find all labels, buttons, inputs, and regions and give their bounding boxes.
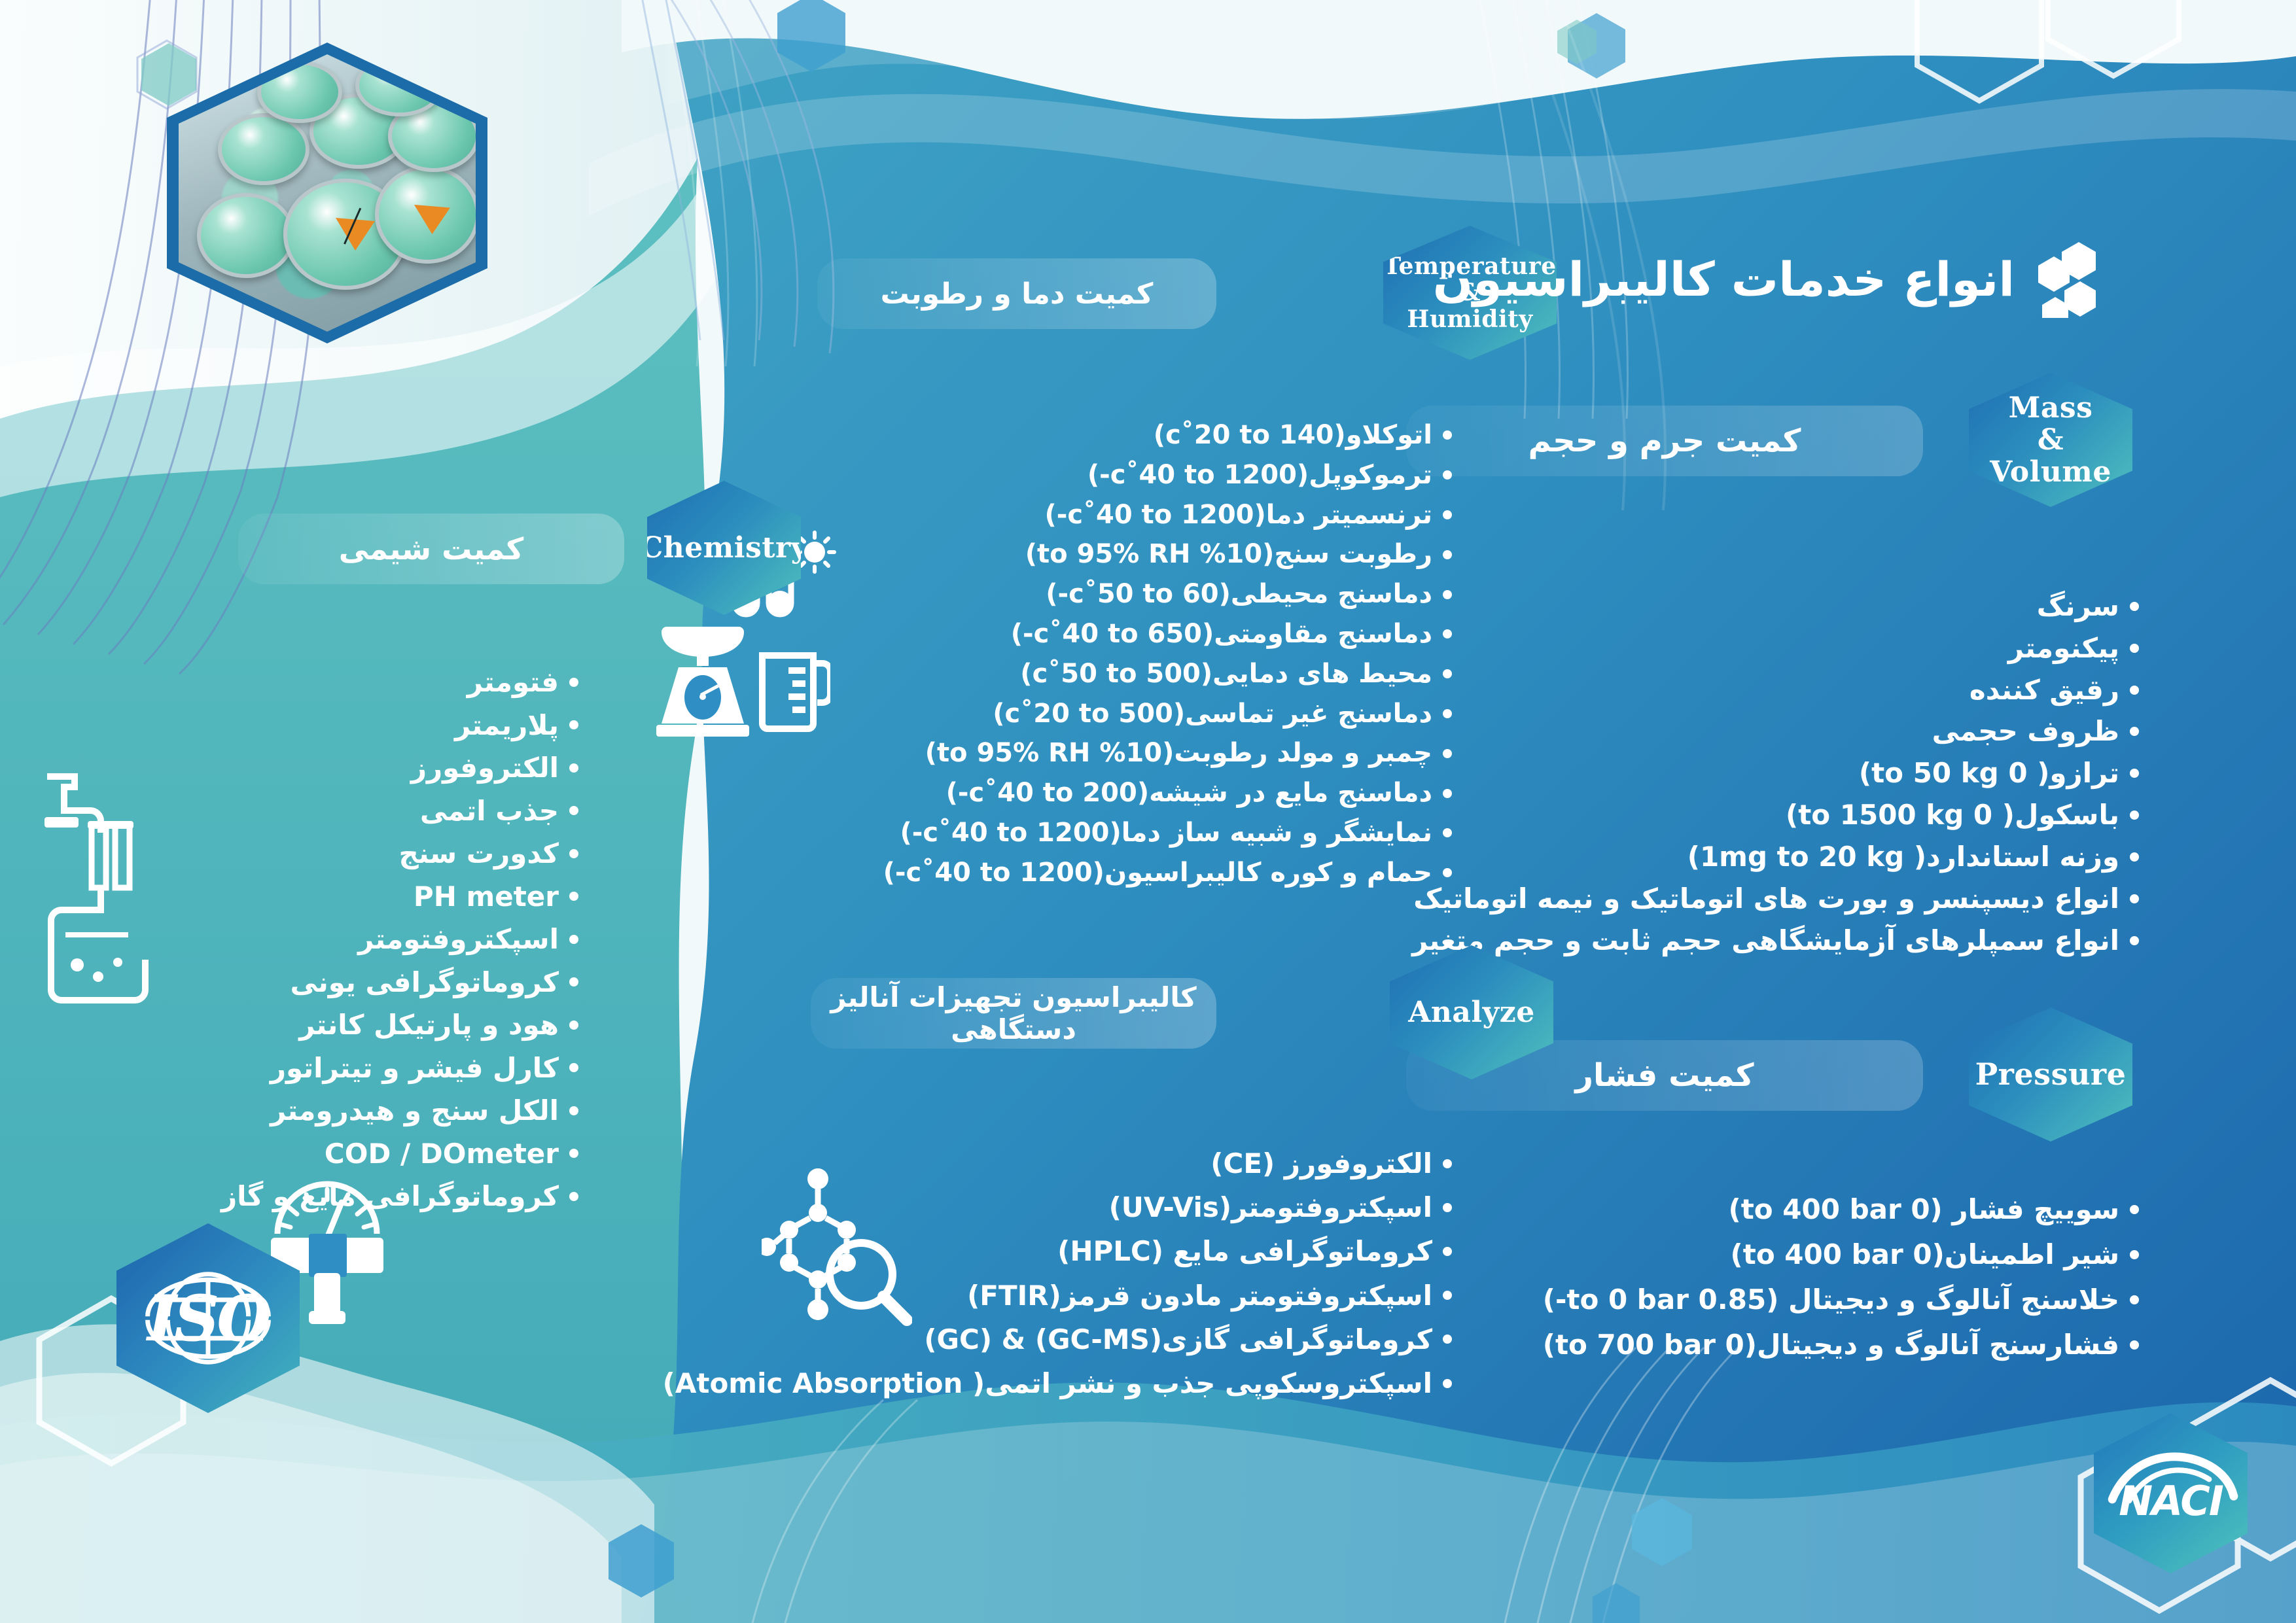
list-item: اسپکتروفتومتر(UV-Vis) xyxy=(765,1185,1452,1229)
list-item: اتوکلاو(c˚20 to 140) xyxy=(798,415,1452,455)
bullet-icon xyxy=(1443,828,1452,837)
bullet-icon xyxy=(1443,590,1452,599)
list-temperature-humidity: اتوکلاو(c˚20 to 140) ترموکوپل(c˚40 to 12… xyxy=(798,415,1452,893)
list-item: ظروف حجمی xyxy=(1354,710,2139,752)
bullet-icon xyxy=(569,1106,578,1115)
page-title: انواع خدمات کالیبراسیون xyxy=(1433,252,2015,307)
list-item: دماسنج غیر تماسی(c˚20 to 500) xyxy=(798,694,1452,734)
bullet-icon xyxy=(569,1149,578,1158)
bullet-icon xyxy=(2130,936,2139,945)
list-item: ترموکوپل(c˚40 to 1200-) xyxy=(798,455,1452,495)
list-item: اسپکتروفتومتر xyxy=(81,918,578,961)
bullet-icon xyxy=(569,935,578,944)
list-item: دماسنج مقاومتی(c˚40 to 650-) xyxy=(798,614,1452,654)
bullet-icon xyxy=(569,1192,578,1201)
hex-cluster-icon xyxy=(2028,241,2100,318)
bullet-icon xyxy=(1443,629,1452,638)
bullet-icon xyxy=(1443,789,1452,798)
list-item: الکل سنج و هیدرومتر xyxy=(81,1089,578,1132)
bullet-icon xyxy=(2130,1250,2139,1259)
bullet-icon xyxy=(2130,1295,2139,1304)
bullet-icon xyxy=(569,1021,578,1030)
list-item: خلاسنج آنالوگ و دیجیتال (0.85 to 0 bar-) xyxy=(1380,1278,2139,1323)
list-item: محیط های دمایی(c˚50 to 500) xyxy=(798,654,1452,694)
bullet-icon xyxy=(1443,510,1452,519)
list-item: کروماتوگرافی مایع (HPLC) xyxy=(765,1229,1452,1273)
bullet-icon xyxy=(2130,811,2139,820)
list-item: پلاریمتر xyxy=(81,704,578,747)
bullet-icon xyxy=(2130,727,2139,736)
bullet-icon xyxy=(1443,1379,1452,1388)
bullet-icon xyxy=(1443,1159,1452,1168)
list-item: COD / DOmeter xyxy=(81,1132,578,1176)
bullet-icon xyxy=(2130,1340,2139,1350)
bullet-icon xyxy=(569,1063,578,1072)
list-item: وزنه استاندارد( 1mg to 20 kg) xyxy=(1354,836,2139,878)
section-pill-temperature-humidity: کمیت دما و رطوبت xyxy=(817,258,1216,329)
list-item: اسپکتروفتومتر مادون قرمز(FTIR) xyxy=(765,1274,1452,1318)
bullet-icon xyxy=(2130,769,2139,778)
list-item: شیر اطمینان(0 to 400 bar) xyxy=(1380,1232,2139,1278)
list-item: فتومتر xyxy=(81,661,578,704)
section-pill-mass-volume: کمیت جرم و حجم xyxy=(1406,406,1923,476)
section-pill-chemistry: کمیت شیمی xyxy=(238,514,624,584)
list-analyze: الکتروفورز (CE) اسپکتروفتومتر(UV-Vis) کر… xyxy=(765,1142,1452,1405)
list-item: جذب اتمی xyxy=(81,790,578,833)
list-item: کارل فیشر و تیتراتور xyxy=(81,1047,578,1090)
pill-label-chemistry: کمیت شیمی xyxy=(238,531,624,567)
list-item: رقیق کننده xyxy=(1354,669,2139,711)
bullet-icon xyxy=(2130,852,2139,862)
list-item: پیکنومتر xyxy=(1354,627,2139,669)
bullet-icon xyxy=(2130,686,2139,695)
bullet-icon xyxy=(1443,550,1452,559)
badge-line-analyze: Analyze xyxy=(1408,996,1534,1028)
list-item: کروماتوگرافی یونی xyxy=(81,961,578,1004)
bullet-icon xyxy=(2130,894,2139,903)
list-item: کروماتوگرافی گازی(GC-MS) & (GC) xyxy=(765,1318,1452,1361)
bullet-icon xyxy=(1443,669,1452,678)
bullet-icon xyxy=(2130,602,2139,611)
pill-label-temperature-humidity: کمیت دما و رطوبت xyxy=(817,277,1216,311)
list-item: رطوبت سنج(10% to 95% RH) xyxy=(798,534,1452,574)
bullet-icon xyxy=(569,720,578,729)
badge-line-amp: & xyxy=(1990,424,2111,456)
naci-logo-text: NACI xyxy=(2119,1477,2223,1525)
pill-label-analyze: کالیبراسیون تجهیزات آنالیز دستگاهی xyxy=(811,981,1216,1045)
bullet-icon xyxy=(2130,1205,2139,1214)
bullet-icon xyxy=(1443,430,1452,440)
bullet-icon xyxy=(1443,868,1452,877)
badge-line-humidity: Humidity xyxy=(1383,306,1556,332)
list-item: سوییچ فشار (0 to 400 bar) xyxy=(1380,1187,2139,1232)
bullet-icon xyxy=(1443,470,1452,480)
bullet-icon xyxy=(569,763,578,773)
badge-line-volume: Volume xyxy=(1990,456,2111,488)
section-pill-analyze: کالیبراسیون تجهیزات آنالیز دستگاهی xyxy=(811,978,1216,1049)
list-chemistry: فتومتر پلاریمتر الکتروفورز جذب اتمی کدور… xyxy=(81,661,578,1218)
bullet-icon xyxy=(1443,749,1452,758)
badge-line-mass: Mass xyxy=(1990,392,2111,424)
list-item: الکتروفورز (CE) xyxy=(765,1142,1452,1185)
list-item: الکتروفورز xyxy=(81,746,578,790)
bullet-icon xyxy=(569,849,578,858)
list-item: اسپکتروسکوپی جذب و نشر اتمی( Atomic Abso… xyxy=(765,1361,1452,1405)
list-item: حمام و کوره کالیبراسیون(c˚40 to 1200-) xyxy=(798,853,1452,893)
bullet-icon xyxy=(569,806,578,815)
bullet-icon xyxy=(569,678,578,687)
list-item: دماسنج محیطی(c˚50 to 60-) xyxy=(798,574,1452,614)
bullet-icon xyxy=(569,977,578,986)
bullet-icon xyxy=(2130,644,2139,653)
list-item: ترنسمیتر دما(c˚40 to 1200-) xyxy=(798,495,1452,535)
list-item: فشارسنج آنالوگ و دیجیتال(0 to 700 bar) xyxy=(1380,1323,2139,1368)
list-item: دماسنج مایع در شیشه(c˚40 to 200-) xyxy=(798,773,1452,813)
list-item: نمایشگر و شبیه ساز دما(c˚40 to 1200-) xyxy=(798,813,1452,853)
pill-label-mass-volume: کمیت جرم و حجم xyxy=(1406,423,1923,459)
bullet-icon xyxy=(569,892,578,901)
badge-line-chemistry: Chemistry xyxy=(640,532,808,564)
list-item: چمبر و مولد رطوبت(10% to 95% RH) xyxy=(798,733,1452,773)
list-item: سرنگ xyxy=(1354,585,2139,627)
badge-line-pressure: Pressure xyxy=(1975,1058,2127,1092)
iso-logo-text: ISO xyxy=(147,1282,269,1355)
list-pressure: سوییچ فشار (0 to 400 bar) شیر اطمینان(0 … xyxy=(1380,1187,2139,1368)
list-item: کدورت سنج xyxy=(81,832,578,875)
list-item: هود و پارتیکل کانتر xyxy=(81,1003,578,1047)
list-mass-volume: سرنگ پیکنومتر رقیق کننده ظروف حجمی ترازو… xyxy=(1354,585,2139,961)
list-item: ترازو( 0 to 50 kg) xyxy=(1354,752,2139,794)
list-item: PH meter xyxy=(81,875,578,918)
list-item: انواع دیسپنسر و بورت های اتوماتیک و نیمه… xyxy=(1354,878,2139,920)
list-item: باسکول( 0 to 1500 kg) xyxy=(1354,794,2139,836)
bullet-icon xyxy=(1443,709,1452,718)
